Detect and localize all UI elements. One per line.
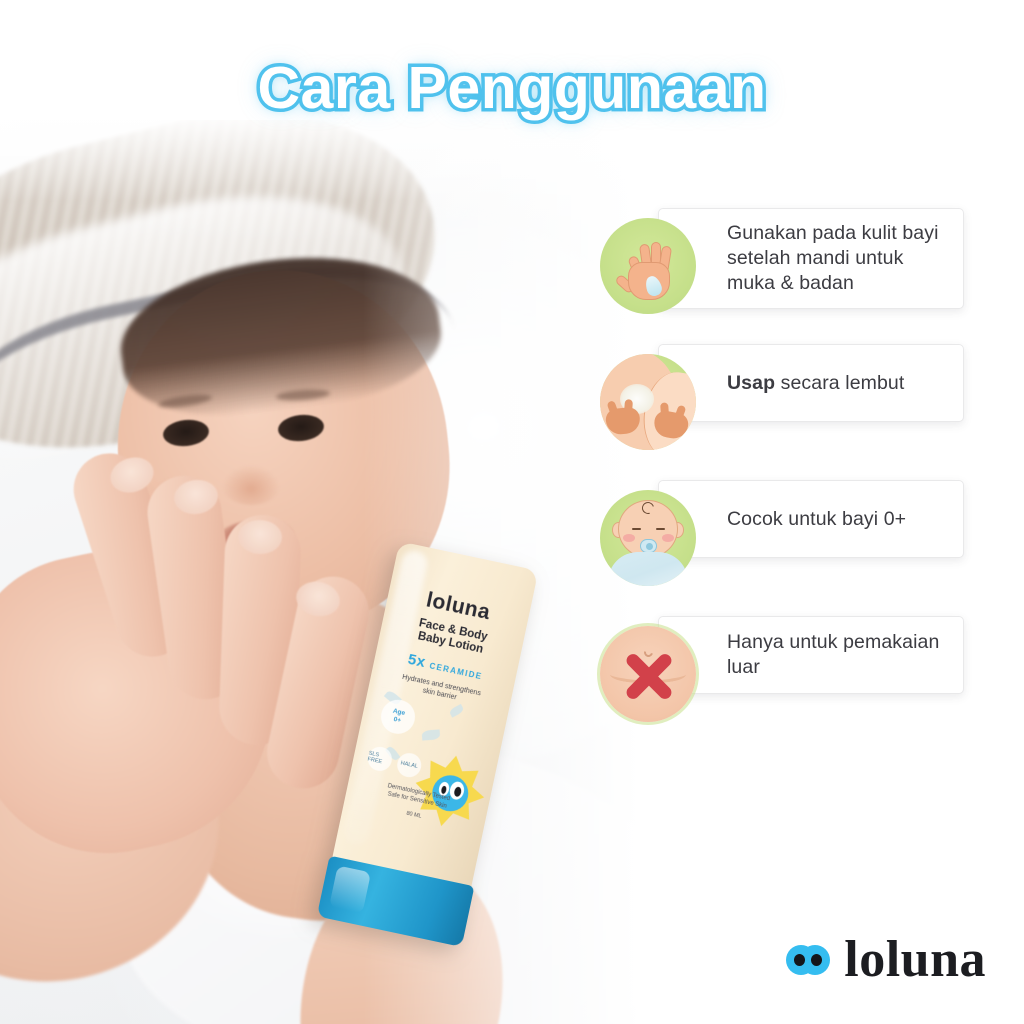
step-icon-3 [600, 490, 696, 586]
page-title: Cara Penggunaan [0, 54, 1024, 122]
step-item: Hanya untuk pemakaian luar [596, 616, 964, 752]
step-icon-1 [600, 218, 696, 314]
hands-rubbing-skin-icon [600, 354, 696, 450]
nose-detail [642, 646, 654, 658]
brand-logo: loluna [786, 934, 986, 986]
tube-age-line2: 0+ [393, 716, 402, 725]
baby-with-pacifier-icon [600, 490, 696, 586]
poster-canvas: loluna Face & Body Baby Lotion 5x CERAMI… [0, 0, 1024, 1024]
baby-icon-cheek-right [662, 534, 674, 542]
pacifier-icon [640, 539, 657, 553]
step-item: Cocok untuk bayi 0+ [596, 480, 964, 616]
swaddle-blanket [608, 552, 688, 586]
step-text-1: Gunakan pada kulit bayi setelah mandi un… [727, 221, 947, 296]
step-text-2: Usap secara lembut [727, 371, 904, 396]
step-card-4: Hanya untuk pemakaian luar [658, 616, 964, 694]
step-text-3: Cocok untuk bayi 0+ [727, 507, 906, 532]
step-text-2-bold: Usap [727, 372, 775, 394]
step-card-2: Usap secara lembut [658, 344, 964, 422]
step-icon-2 [600, 354, 696, 450]
steps-list: Gunakan pada kulit bayi setelah mandi un… [596, 208, 964, 752]
step-text-2-rest: secara lembut [781, 372, 905, 394]
step-card-1: Gunakan pada kulit bayi setelah mandi un… [658, 208, 964, 309]
step-icon-4 [600, 626, 696, 722]
step-card-3: Cocok untuk bayi 0+ [658, 480, 964, 558]
loluna-eyes-icon [786, 945, 830, 975]
step-item: Usap secara lembut [596, 344, 964, 480]
step-item: Gunakan pada kulit bayi setelah mandi un… [596, 208, 964, 344]
tube-badge-sls-free: SLS FREE [366, 745, 394, 773]
baby-nose [222, 465, 280, 505]
hand-with-lotion-drop-icon [622, 242, 676, 298]
logo-wordmark: loluna [844, 934, 986, 986]
no-oral-use-cross-icon [600, 626, 696, 722]
baby-icon-cheek-left [623, 534, 635, 542]
step-text-4: Hanya untuk pemakaian luar [727, 630, 947, 680]
tube-ceramide-value: 5x [406, 651, 427, 671]
